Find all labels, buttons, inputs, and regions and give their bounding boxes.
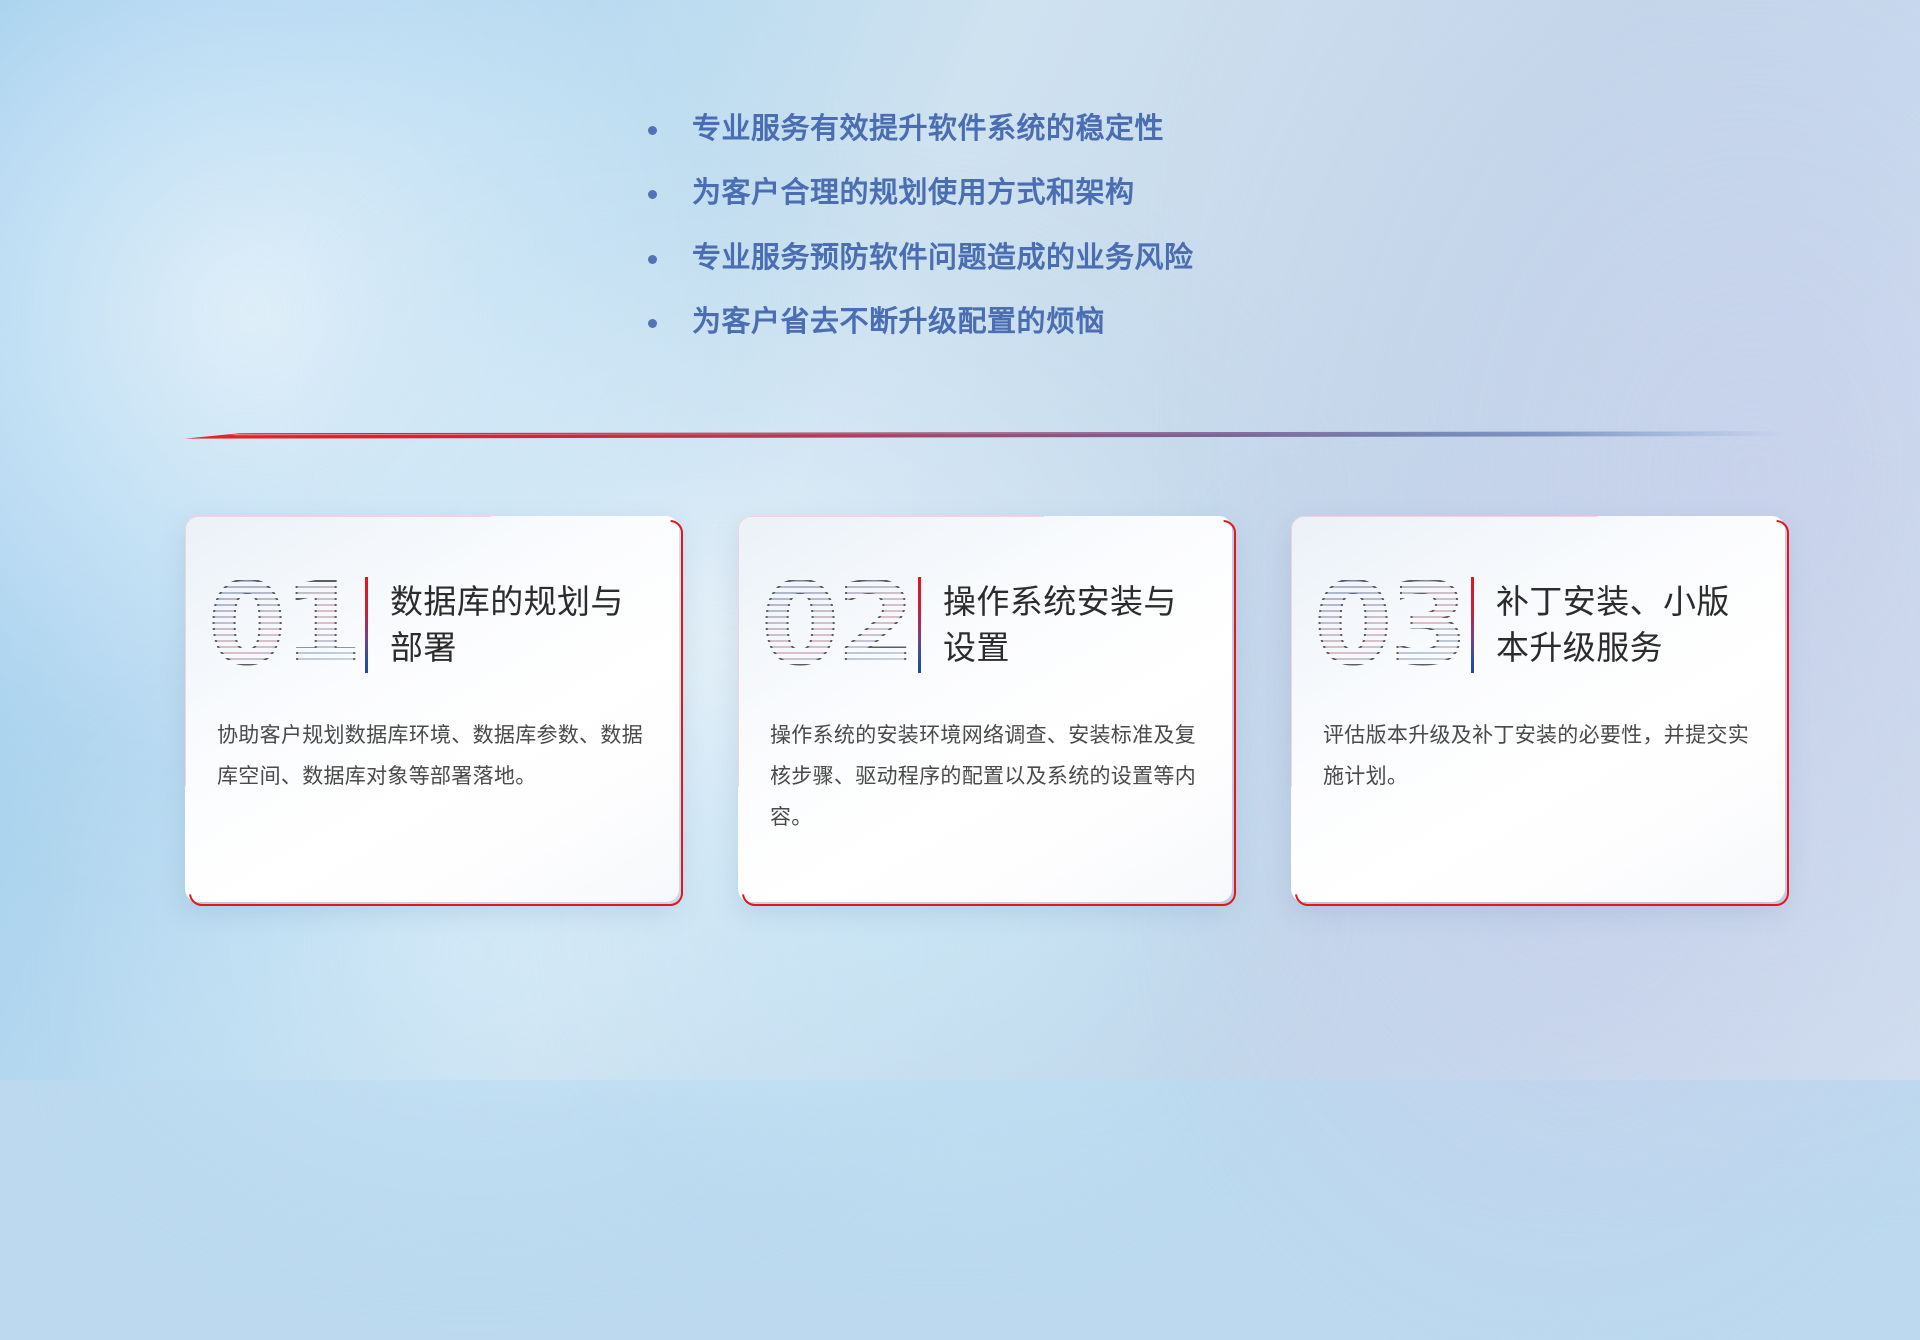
- bullet-dot-icon: [648, 126, 657, 135]
- card-body-text: 操作系统的安装环境网络调查、安装标准及复核步骤、驱动程序的配置以及系统的设置等内…: [770, 716, 1200, 839]
- card-divider-bar: [365, 577, 368, 673]
- list-item: 专业服务有效提升软件系统的稳定性: [648, 110, 1368, 148]
- card-divider-bar: [918, 577, 921, 673]
- section-divider: [185, 428, 1785, 441]
- card-number-watermark: 01: [209, 562, 359, 688]
- bullet-text: 专业服务预防软件问题造成的业务风险: [692, 239, 1194, 277]
- benefits-bullet-list: 专业服务有效提升软件系统的稳定性 为客户合理的规划使用方式和架构 专业服务预防软…: [648, 110, 1368, 367]
- bullet-text: 为客户合理的规划使用方式和架构: [692, 174, 1135, 212]
- service-card-02[interactable]: 02 操作系统安装与设置 操作系统的安装环境网络调查、安装标准及复核步骤、驱动程…: [738, 516, 1232, 902]
- list-item: 专业服务预防软件问题造成的业务风险: [648, 239, 1368, 277]
- bullet-text: 专业服务有效提升软件系统的稳定性: [692, 110, 1164, 148]
- card-divider-bar: [1471, 577, 1474, 673]
- card-header: 02 操作系统安装与设置: [738, 550, 1232, 700]
- bullet-text: 为客户省去不断升级配置的烦恼: [692, 303, 1105, 341]
- list-item: 为客户省去不断升级配置的烦恼: [648, 303, 1368, 341]
- card-header: 01 数据库的规划与部署: [185, 550, 679, 700]
- card-title: 补丁安装、小版本升级服务: [1496, 579, 1734, 670]
- card-number-text: 01: [209, 562, 359, 688]
- service-card-01[interactable]: 01 数据库的规划与部署 协助客户规划数据库环境、数据库参数、数据库空间、数据库…: [185, 516, 679, 902]
- card-number-watermark: 03: [1315, 562, 1465, 688]
- card-title: 数据库的规划与部署: [390, 579, 628, 670]
- service-card-03[interactable]: 03 补丁安装、小版本升级服务 评估版本升级及补丁安装的必要性，并提交实施计划。: [1291, 516, 1785, 902]
- service-card-row: 01 数据库的规划与部署 协助客户规划数据库环境、数据库参数、数据库空间、数据库…: [185, 516, 1785, 902]
- card-number-text: 03: [1315, 562, 1465, 688]
- card-number-text: 02: [762, 562, 912, 688]
- bullet-dot-icon: [648, 255, 657, 264]
- bullet-dot-icon: [648, 319, 657, 328]
- card-header: 03 补丁安装、小版本升级服务: [1291, 550, 1785, 700]
- card-number-watermark: 02: [762, 562, 912, 688]
- card-body-text: 评估版本升级及补丁安装的必要性，并提交实施计划。: [1323, 716, 1753, 798]
- card-body-text: 协助客户规划数据库环境、数据库参数、数据库空间、数据库对象等部署落地。: [217, 716, 647, 798]
- list-item: 为客户合理的规划使用方式和架构: [648, 174, 1368, 212]
- card-title: 操作系统安装与设置: [943, 579, 1181, 670]
- bullet-dot-icon: [648, 190, 657, 199]
